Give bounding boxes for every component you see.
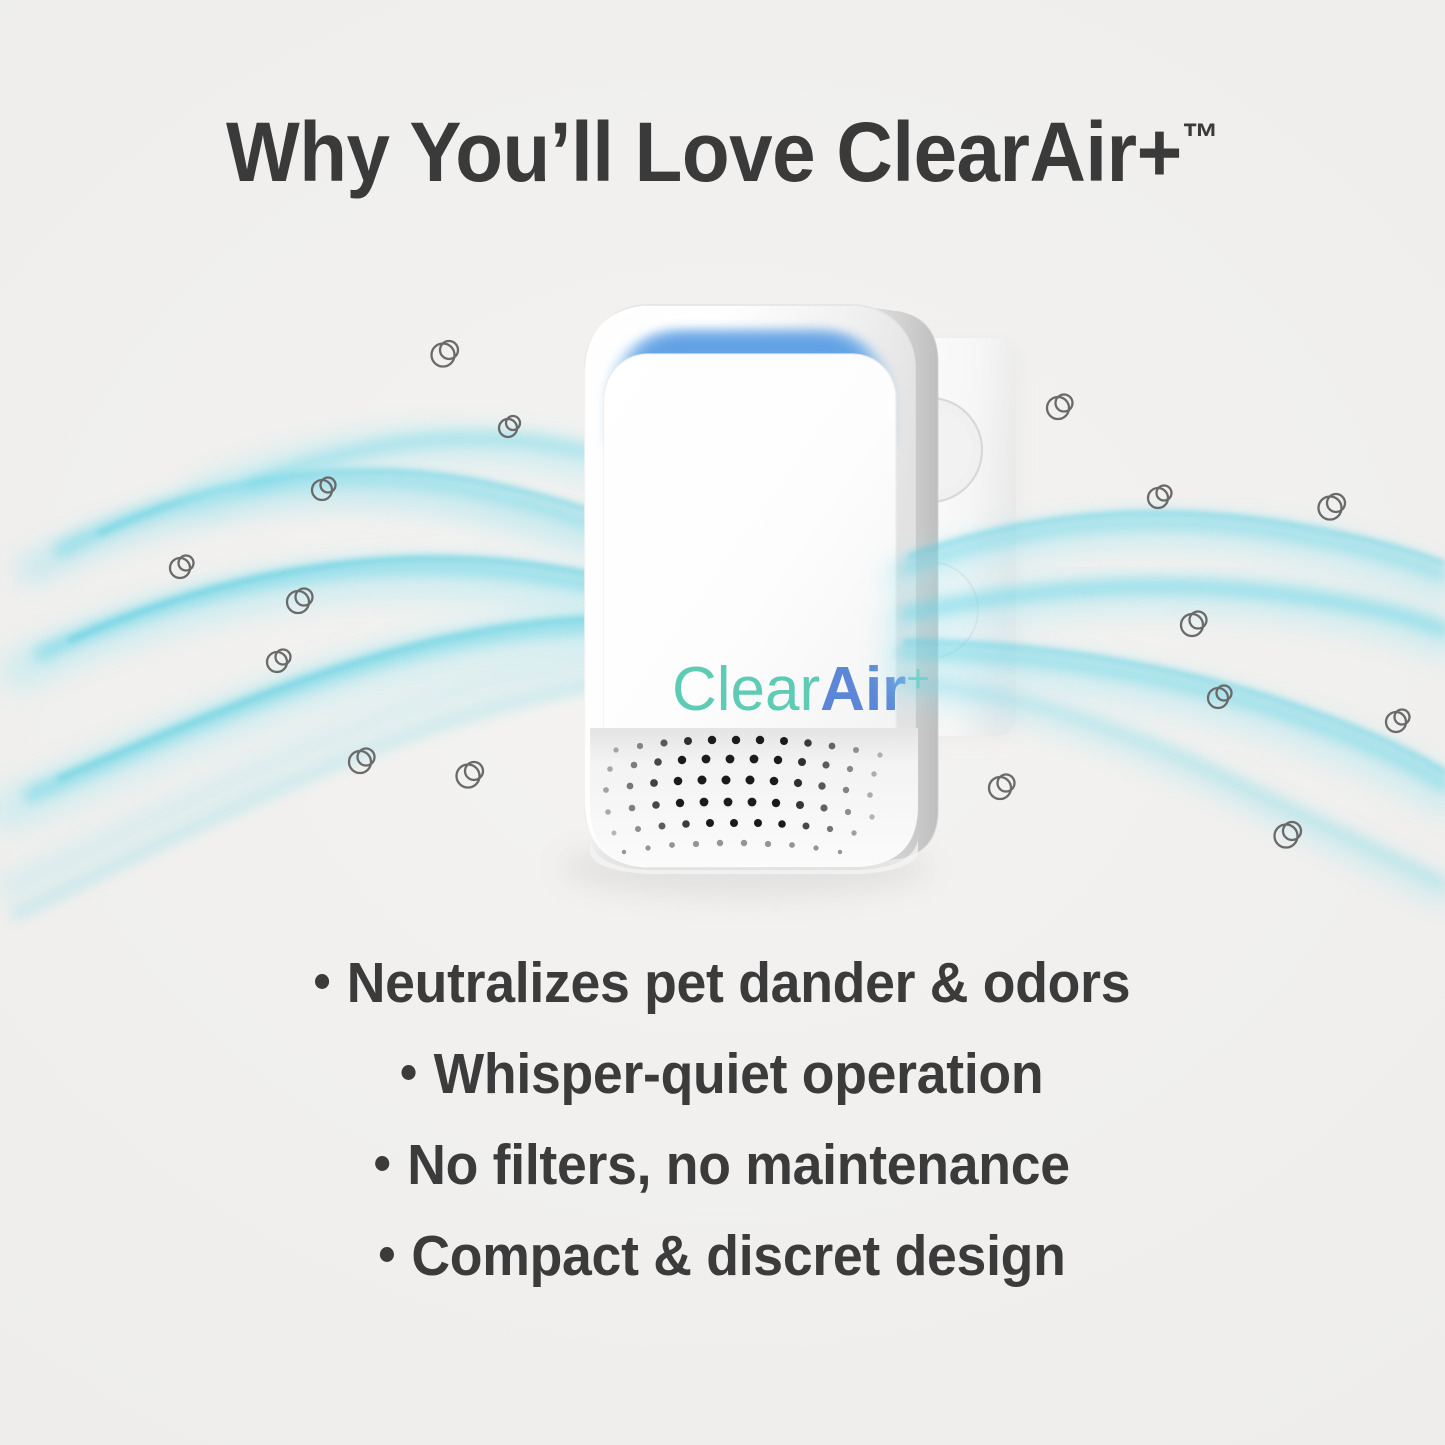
airflow-streams-right — [900, 513, 1444, 894]
list-item-label: Compact & discret design — [411, 1224, 1065, 1288]
particle-icon — [267, 650, 291, 673]
bullet-dot-icon — [379, 1247, 393, 1262]
particle-icon — [1386, 710, 1410, 733]
promo-graphic: Why You’ll Love ClearAir+™ — [0, 0, 1445, 1445]
trademark-symbol: ™ — [1182, 116, 1219, 160]
list-item: Neutralizes pet dander & odors — [43, 955, 1401, 1012]
feature-bullet-list: Neutralizes pet dander & odors Whisper-q… — [0, 955, 1445, 1285]
logo-clear: Clear — [672, 655, 820, 724]
list-item-label: Whisper-quiet operation — [434, 1042, 1044, 1106]
list-item: No filters, no maintenance — [43, 1137, 1401, 1194]
list-item-label: Neutralizes pet dander & odors — [347, 951, 1131, 1015]
particle-icon — [1319, 494, 1346, 520]
particle-icon — [1148, 486, 1172, 509]
bullet-dot-icon — [315, 974, 329, 989]
particle-icon — [432, 341, 459, 367]
bullet-dot-icon — [375, 1156, 389, 1171]
list-item-label: No filters, no maintenance — [407, 1133, 1070, 1197]
particle-icon — [1181, 612, 1207, 637]
particle-icon — [170, 556, 194, 579]
list-item: Whisper-quiet operation — [43, 1046, 1401, 1103]
page-title: Why You’ll Love ClearAir+™ — [51, 110, 1395, 194]
device-vent-grille — [590, 728, 918, 874]
particle-icon — [1047, 395, 1073, 420]
headline-text: Why You’ll Love ClearAir+ — [226, 105, 1182, 199]
bullet-dot-icon — [402, 1065, 416, 1080]
list-item: Compact & discret design — [43, 1228, 1401, 1285]
product-hero-image: ClearAir+ — [0, 250, 1445, 940]
particle-icon — [989, 775, 1015, 800]
particle-icon — [457, 762, 484, 788]
